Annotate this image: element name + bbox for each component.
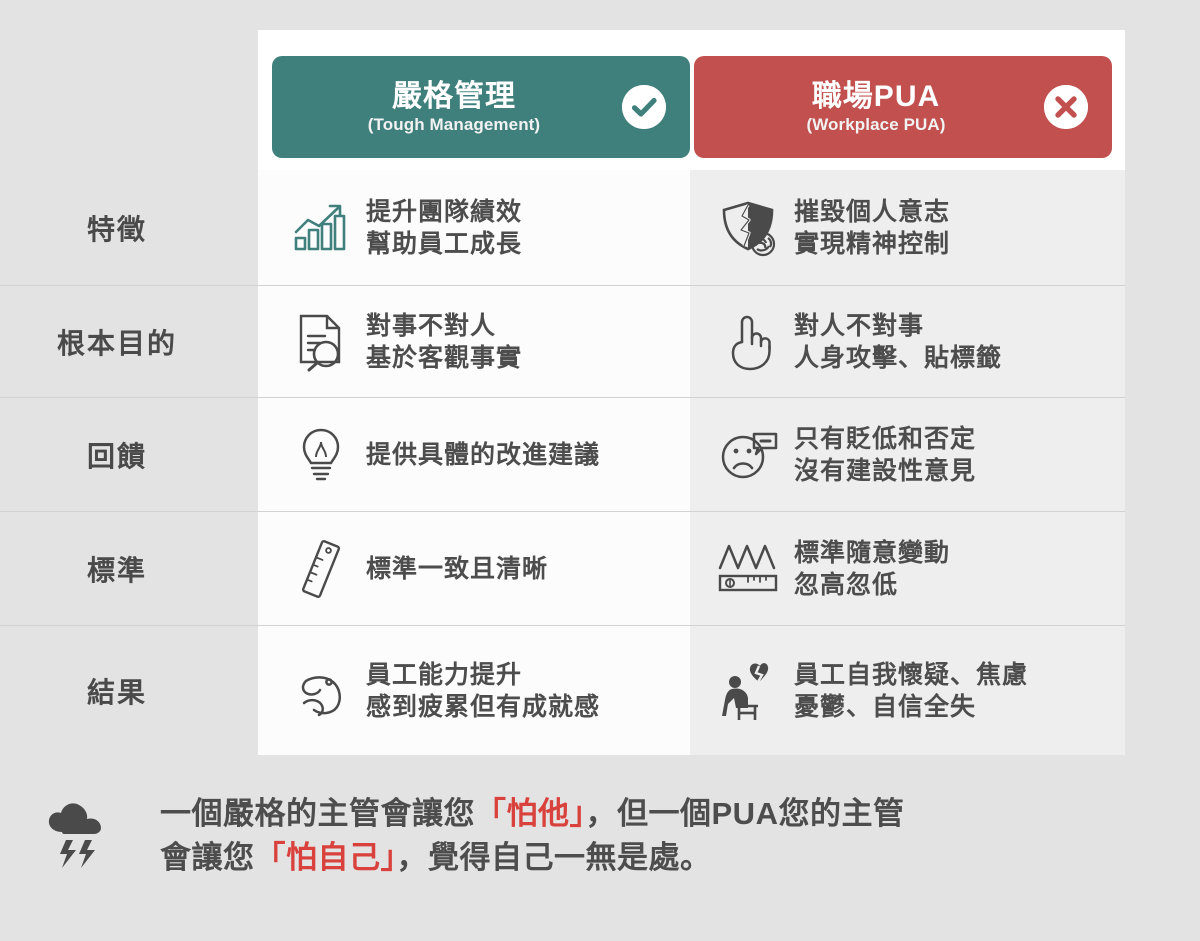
row-label-text: 特徵 <box>87 208 147 248</box>
flexed-biceps-icon <box>284 654 358 728</box>
check-circle-icon <box>622 85 666 129</box>
cell-text-pua-standard: 標準隨意變動 忽高忽低 <box>794 537 950 601</box>
table-row: 結果 員工能力提升 感到疲累但有成就感 <box>0 625 1200 755</box>
header-card-workplace-pua: 職場PUA (Workplace PUA) <box>694 56 1112 158</box>
cell-line-1: 標準隨意變動 <box>794 539 950 567</box>
cell-line-2: 實現精神控制 <box>794 228 950 260</box>
table-row: 特徵 提升團隊績效 <box>0 170 1200 285</box>
row-label-result: 結果 <box>0 625 258 755</box>
row-label-standard: 標準 <box>0 511 258 625</box>
cell-line-1: 對事不對人 <box>366 312 496 340</box>
cell-line-2: 感到疲累但有成就感 <box>366 691 600 723</box>
cell-text-pua-result: 員工自我懷疑、焦慮 憂鬱、自信全失 <box>794 659 1028 723</box>
header-card-pua-texts: 職場PUA (Workplace PUA) <box>806 79 999 135</box>
header-cards: 嚴格管理 (Tough Management) 職場PUA (Workplace… <box>272 56 1112 158</box>
row-label-text: 標準 <box>87 549 147 589</box>
footer-line1-highlight: 「怕他」 <box>475 796 586 831</box>
footer-line2-part-a: 會讓您 <box>160 840 255 875</box>
cell-text-pua-characteristics: 摧毀個人意志 實現精神控制 <box>794 196 950 260</box>
cell-text-tough-result: 員工能力提升 感到疲累但有成就感 <box>366 659 600 723</box>
zigzag-wave-ruler-icon <box>712 532 786 606</box>
table-row: 根本目的 <box>0 285 1200 397</box>
row-label-text: 結果 <box>87 671 147 711</box>
cell-text-pua-feedback: 只有貶低和否定 沒有建設性意見 <box>794 423 976 487</box>
cell-line-1: 標準一致且清晰 <box>366 555 548 583</box>
cell-line-1: 對人不對事 <box>794 312 924 340</box>
cell-line-1: 員工能力提升 <box>366 661 522 689</box>
header-card-tough-management: 嚴格管理 (Tough Management) <box>272 56 690 158</box>
cell-line-1: 摧毀個人意志 <box>794 198 950 226</box>
cell-text-tough-characteristics: 提升團隊績效 幫助員工成長 <box>366 196 522 260</box>
x-circle-icon <box>1044 85 1088 129</box>
cell-line-1: 員工自我懷疑、焦慮 <box>794 661 1028 689</box>
comparison-table: 特徵 提升團隊績效 <box>0 170 1200 755</box>
cell-tough-result: 員工能力提升 感到疲累但有成就感 <box>258 625 690 755</box>
footer-line1-part-a: 一個嚴格的主管會讓您 <box>160 796 475 831</box>
infographic-page: 嚴格管理 (Tough Management) 職場PUA (Workplace… <box>0 0 1200 941</box>
cell-line-1: 只有貶低和否定 <box>794 425 976 453</box>
cell-text-pua-fundamental-purpose: 對人不對事 人身攻擊、貼標籤 <box>794 310 1002 374</box>
ruler-icon <box>284 532 358 606</box>
storm-cloud-lightning-icon <box>0 770 160 870</box>
footer-line-1: 一個嚴格的主管會讓您「怕他」，但一個PUA您的主管 <box>160 792 904 836</box>
cell-text-tough-standard: 標準一致且清晰 <box>366 553 548 585</box>
table-row: 回饋 提供具體的改進建議 <box>0 397 1200 511</box>
row-label-fundamental-purpose: 根本目的 <box>0 285 258 397</box>
pointing-finger-icon <box>712 305 786 379</box>
header-title-tough: 嚴格管理 <box>368 79 540 114</box>
cell-line-2: 沒有建設性意見 <box>794 455 976 487</box>
row-label-text: 根本目的 <box>57 322 177 362</box>
footer-text: 一個嚴格的主管會讓您「怕他」，但一個PUA您的主管 會讓您「怕自己」，覺得自己一… <box>160 770 904 880</box>
footer-line2-highlight: 「怕自己」 <box>255 840 397 875</box>
cell-tough-feedback: 提供具體的改進建議 <box>258 397 690 511</box>
cell-line-2: 忽高忽低 <box>794 569 950 601</box>
footer-line1-part-b: ，但一個PUA您的主管 <box>586 796 905 831</box>
header-title-pua: 職場PUA <box>806 79 945 114</box>
cell-line-1: 提升團隊績效 <box>366 198 522 226</box>
broken-shield-brain-icon <box>712 191 786 265</box>
footer-line-2: 會讓您「怕自己」，覺得自己一無是處。 <box>160 836 904 880</box>
cell-text-tough-fundamental-purpose: 對事不對人 基於客觀事實 <box>366 310 522 374</box>
cell-tough-characteristics: 提升團隊績效 幫助員工成長 <box>258 170 690 285</box>
sad-face-speech-icon <box>712 418 786 492</box>
row-right-spacer <box>1125 170 1200 285</box>
header-subtitle-tough: (Tough Management) <box>368 115 540 135</box>
row-right-spacer <box>1125 397 1200 511</box>
cell-line-2: 基於客觀事實 <box>366 342 522 374</box>
cell-pua-fundamental-purpose: 對人不對事 人身攻擊、貼標籤 <box>690 285 1125 397</box>
header-subtitle-pua: (Workplace PUA) <box>806 115 945 135</box>
row-label-text: 回饋 <box>87 435 147 475</box>
cell-tough-fundamental-purpose: 對事不對人 基於客觀事實 <box>258 285 690 397</box>
cell-tough-standard: 標準一致且清晰 <box>258 511 690 625</box>
cell-pua-characteristics: 摧毀個人意志 實現精神控制 <box>690 170 1125 285</box>
header-card-tough-texts: 嚴格管理 (Tough Management) <box>368 79 594 135</box>
cell-pua-standard: 標準隨意變動 忽高忽低 <box>690 511 1125 625</box>
bar-chart-growth-icon <box>284 191 358 265</box>
cell-text-tough-feedback: 提供具體的改進建議 <box>366 439 600 471</box>
depressed-person-broken-heart-icon <box>712 654 786 728</box>
table-row: 標準 <box>0 511 1200 625</box>
document-magnifier-icon <box>284 305 358 379</box>
cell-line-2: 人身攻擊、貼標籤 <box>794 342 1002 374</box>
footer-summary: 一個嚴格的主管會讓您「怕他」，但一個PUA您的主管 會讓您「怕自己」，覺得自己一… <box>0 770 1200 941</box>
footer-line2-part-b: ，覺得自己一無是處。 <box>397 840 712 875</box>
cell-line-2: 幫助員工成長 <box>366 228 522 260</box>
cell-line-1: 提供具體的改進建議 <box>366 441 600 469</box>
row-right-spacer <box>1125 511 1200 625</box>
row-right-spacer <box>1125 285 1200 397</box>
row-label-characteristics: 特徵 <box>0 170 258 285</box>
row-right-spacer <box>1125 625 1200 755</box>
cell-pua-result: 員工自我懷疑、焦慮 憂鬱、自信全失 <box>690 625 1125 755</box>
cell-pua-feedback: 只有貶低和否定 沒有建設性意見 <box>690 397 1125 511</box>
lightbulb-icon <box>284 418 358 492</box>
cell-line-2: 憂鬱、自信全失 <box>794 691 1028 723</box>
row-label-feedback: 回饋 <box>0 397 258 511</box>
